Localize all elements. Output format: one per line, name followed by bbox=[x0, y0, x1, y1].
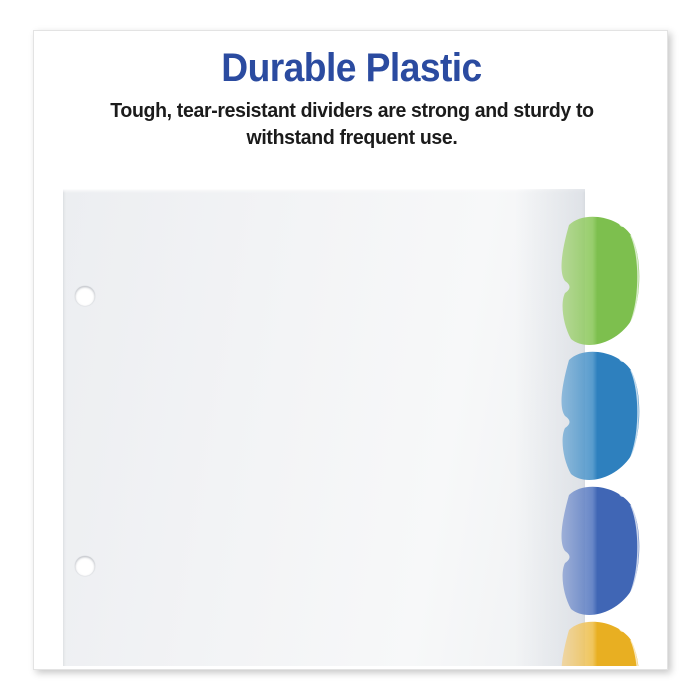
page-title: Durable Plastic bbox=[56, 47, 647, 89]
index-tab-blue bbox=[559, 344, 643, 486]
product-image-canvas: Durable Plastic Tough, tear-resistant di… bbox=[0, 0, 700, 700]
index-tab-indigo bbox=[559, 479, 643, 621]
index-tab-yellow bbox=[559, 614, 643, 670]
headline-block: Durable Plastic Tough, tear-resistant di… bbox=[34, 47, 668, 151]
index-tab-stack bbox=[559, 201, 668, 670]
index-tab-green bbox=[559, 209, 643, 351]
subtitle-text: Tough, tear-resistant dividers are stron… bbox=[76, 98, 627, 151]
sheet-bevel-highlight bbox=[63, 189, 585, 193]
divider-sheet bbox=[63, 189, 585, 670]
product-card: Durable Plastic Tough, tear-resistant di… bbox=[33, 30, 668, 670]
punch-hole-top-icon bbox=[75, 286, 95, 306]
punch-hole-bottom-icon bbox=[75, 556, 95, 576]
card-bottom-edge bbox=[34, 666, 668, 669]
